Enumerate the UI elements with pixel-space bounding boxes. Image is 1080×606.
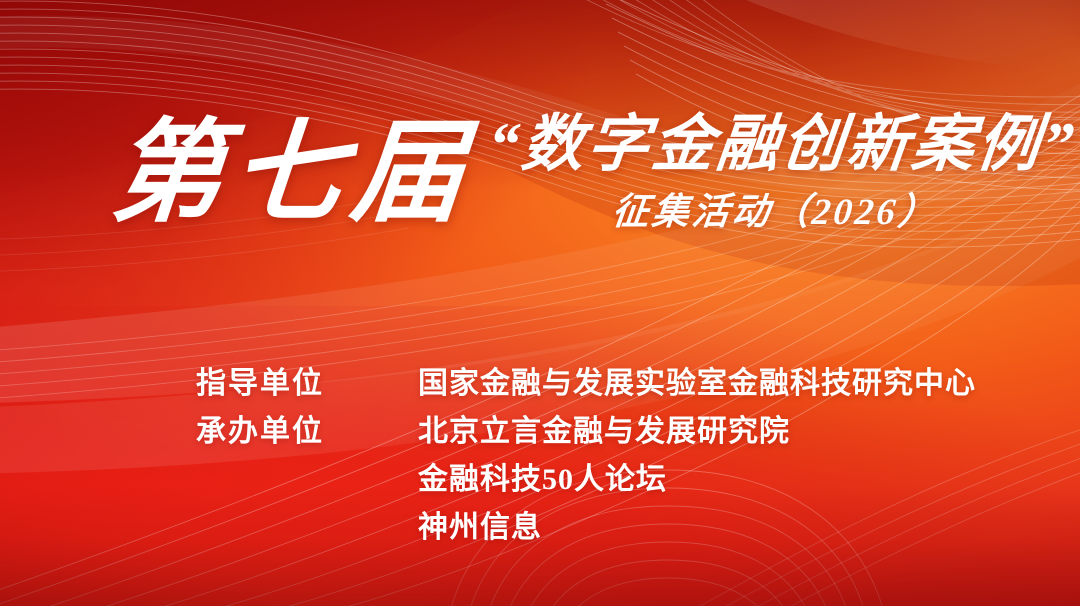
- credits-block: 指导单位 国家金融与发展实验室金融科技研究中心 承办单位 北京立言金融与发展研究…: [196, 360, 976, 552]
- credit-row-guidance: 指导单位 国家金融与发展实验室金融科技研究中心: [196, 360, 976, 408]
- poster-canvas: 第七届 “数字金融创新案例” 征集活动（2026） 指导单位 国家金融与发展实验…: [0, 0, 1080, 606]
- credit-label-guidance: 指导单位: [196, 360, 418, 408]
- credit-values-guidance: 国家金融与发展实验室金融科技研究中心: [418, 360, 976, 408]
- poster-title-quoted: “数字金融创新案例”: [484, 108, 1080, 182]
- credit-value: 金融科技50人论坛: [418, 456, 790, 504]
- credit-value: 北京立言金融与发展研究院: [418, 408, 790, 456]
- poster-title-edition: 第七届: [106, 104, 478, 244]
- credit-value: 神州信息: [418, 504, 790, 552]
- poster-subtitle: 征集活动（2026）: [610, 190, 941, 236]
- credit-row-organizer: 承办单位 北京立言金融与发展研究院 金融科技50人论坛 神州信息: [196, 408, 976, 552]
- credit-values-organizer: 北京立言金融与发展研究院 金融科技50人论坛 神州信息: [418, 408, 790, 552]
- credit-value: 国家金融与发展实验室金融科技研究中心: [418, 360, 976, 408]
- credit-label-organizer: 承办单位: [196, 408, 418, 456]
- poster-content: 第七届 “数字金融创新案例” 征集活动（2026） 指导单位 国家金融与发展实验…: [0, 0, 1080, 606]
